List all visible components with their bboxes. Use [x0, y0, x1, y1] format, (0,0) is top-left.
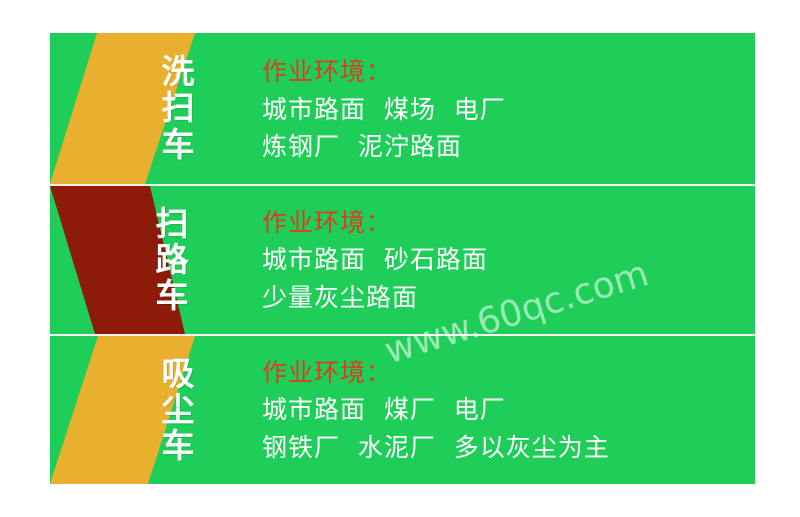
tag-parallelogram-shape [50, 336, 250, 484]
tag-parallelogram-shape [50, 33, 250, 184]
environment-heading: 作业环境： [262, 57, 748, 87]
environment-line: 少量灰尘路面 [262, 283, 748, 313]
environment-line: 城市路面 煤厂 电厂 [262, 395, 748, 425]
environment-heading: 作业环境： [262, 358, 748, 388]
environment-heading: 作业环境： [262, 208, 748, 238]
category-tag-wash-sweep-truck: 洗 扫 车 [50, 33, 250, 184]
comparison-panel: 洗 扫 车 作业环境： 城市路面 煤场 电厂 炼钢厂 泥泞路面 扫 路 车 作业… [50, 33, 755, 484]
row-content: 作业环境： 城市路面 砂石路面 少量灰尘路面 [258, 186, 748, 334]
environment-line: 炼钢厂 泥泞路面 [262, 132, 748, 162]
row-content: 作业环境： 城市路面 煤厂 电厂 钢铁厂 水泥厂 多以灰尘为主 [258, 336, 748, 484]
category-tag-vacuum-truck: 吸 尘 车 [50, 336, 250, 484]
environment-line: 钢铁厂 水泥厂 多以灰尘为主 [262, 433, 748, 463]
environment-line: 城市路面 砂石路面 [262, 245, 748, 275]
row-content: 作业环境： 城市路面 煤场 电厂 炼钢厂 泥泞路面 [258, 33, 748, 184]
category-tag-road-sweeper-truck: 扫 路 车 [50, 186, 250, 334]
tag-parallelogram-shape [50, 186, 250, 334]
environment-line: 城市路面 煤场 电厂 [262, 95, 748, 125]
comparison-row: 扫 路 车 作业环境： 城市路面 砂石路面 少量灰尘路面 [50, 186, 755, 334]
comparison-row: 洗 扫 车 作业环境： 城市路面 煤场 电厂 炼钢厂 泥泞路面 [50, 33, 755, 184]
comparison-row: 吸 尘 车 作业环境： 城市路面 煤厂 电厂 钢铁厂 水泥厂 多以灰尘为主 [50, 336, 755, 484]
